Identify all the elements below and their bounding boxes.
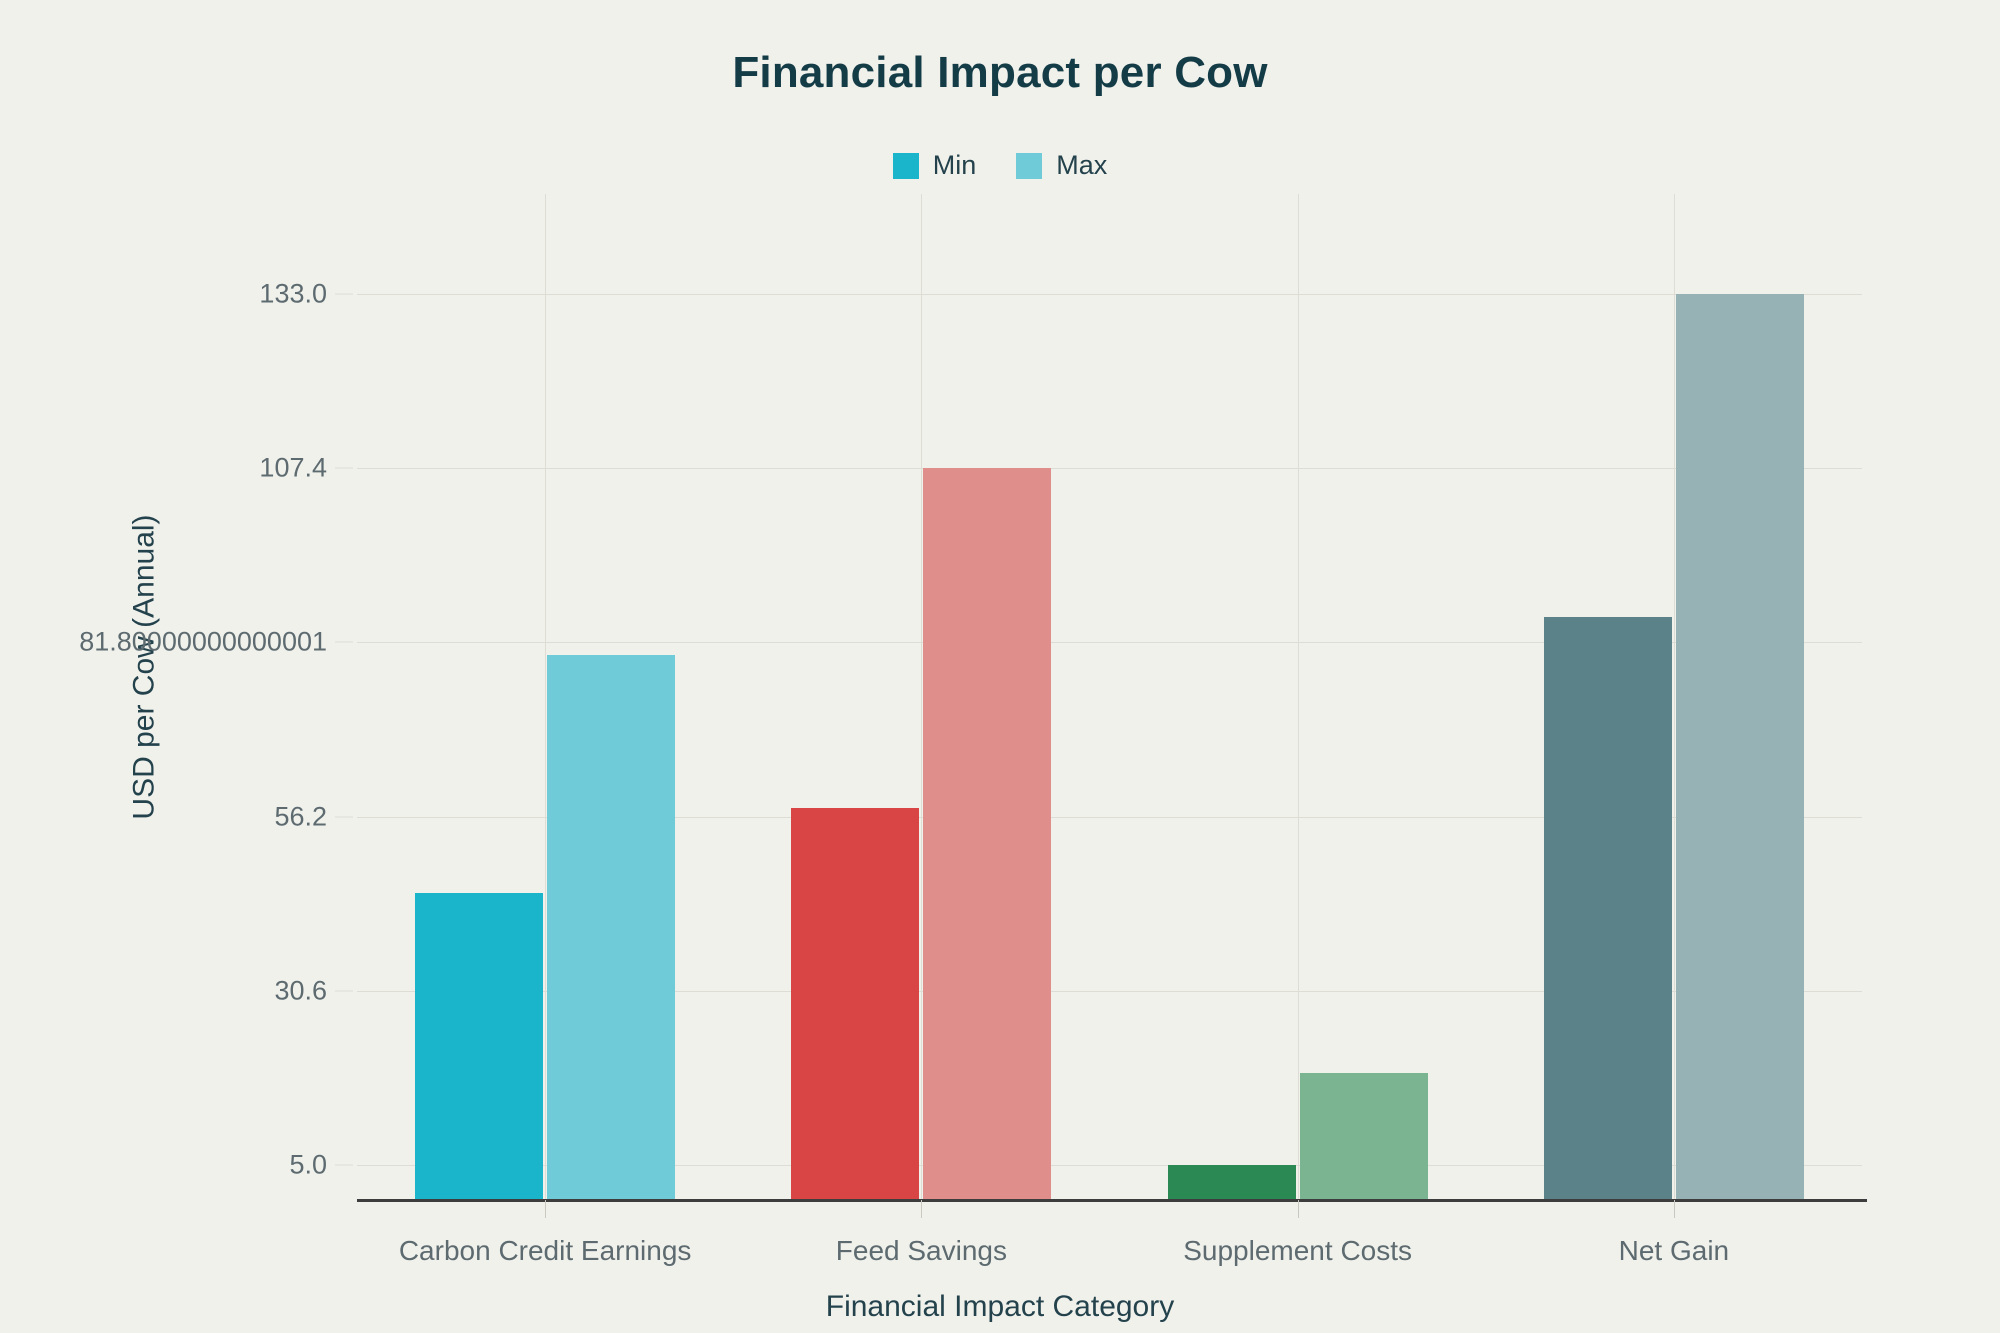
bar-supplement-costs-max[interactable] — [1300, 1073, 1428, 1200]
horizontal-gridline — [357, 468, 1862, 469]
legend-item-max[interactable]: Max — [1016, 150, 1107, 181]
x-tick-mark — [545, 1200, 546, 1218]
chart-container: Financial Impact per Cow Min Max USD per… — [0, 0, 2000, 1333]
x-tick-label: Carbon Credit Earnings — [399, 1235, 692, 1267]
chart-legend: Min Max — [0, 150, 2000, 181]
x-tick-label: Supplement Costs — [1183, 1235, 1412, 1267]
legend-swatch-min-icon — [893, 153, 919, 179]
horizontal-gridline — [357, 294, 1862, 295]
vertical-gridline — [1674, 194, 1675, 1200]
vertical-gridline — [921, 194, 922, 1200]
bar-feed-savings-max[interactable] — [923, 468, 1051, 1200]
bar-net-gain-max[interactable] — [1676, 294, 1804, 1200]
legend-swatch-max-icon — [1016, 153, 1042, 179]
bar-feed-savings-min[interactable] — [791, 808, 919, 1200]
legend-label-max: Max — [1056, 150, 1107, 181]
x-tick-mark — [1298, 1200, 1299, 1218]
bar-carbon-credit-earnings-max[interactable] — [547, 655, 675, 1200]
y-tick-mark — [335, 816, 353, 817]
y-tick-label: 107.4 — [27, 453, 327, 484]
y-tick-mark — [335, 990, 353, 991]
y-tick-label: 56.2 — [27, 801, 327, 832]
vertical-gridline — [545, 194, 546, 1200]
y-tick-mark — [335, 294, 353, 295]
y-axis-title-wrap: USD per Cow (Annual) — [0, 0, 60, 1333]
x-axis-title: Financial Impact Category — [0, 1290, 2000, 1324]
bar-carbon-credit-earnings-min[interactable] — [415, 893, 543, 1200]
bar-net-gain-min[interactable] — [1544, 617, 1672, 1200]
legend-item-min[interactable]: Min — [893, 150, 977, 181]
x-tick-mark — [921, 1200, 922, 1218]
x-tick-mark — [1674, 1200, 1675, 1218]
vertical-gridline — [1298, 194, 1299, 1200]
y-axis-title: USD per Cow (Annual) — [128, 514, 162, 819]
y-tick-label: 5.0 — [27, 1150, 327, 1181]
y-tick-label: 81.80000000000001 — [27, 627, 327, 658]
y-tick-mark — [335, 1165, 353, 1166]
y-tick-label: 133.0 — [27, 279, 327, 310]
legend-label-min: Min — [933, 150, 977, 181]
y-tick-mark — [335, 642, 353, 643]
y-tick-label: 30.6 — [27, 975, 327, 1006]
plot-area — [357, 294, 1862, 1200]
x-axis-line — [357, 1199, 1867, 1202]
y-tick-mark — [335, 468, 353, 469]
x-tick-label: Net Gain — [1619, 1235, 1730, 1267]
chart-title: Financial Impact per Cow — [0, 48, 2000, 98]
bar-supplement-costs-min[interactable] — [1168, 1165, 1296, 1200]
x-tick-label: Feed Savings — [836, 1235, 1007, 1267]
